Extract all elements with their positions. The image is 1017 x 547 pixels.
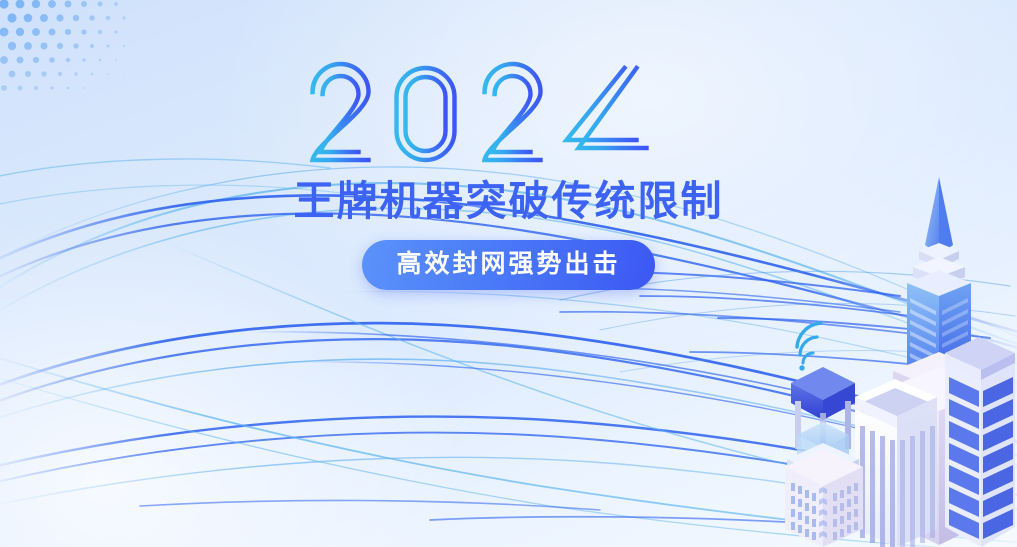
wifi-signal-icon bbox=[797, 323, 821, 371]
promo-banner: 王牌机器突破传统限制 高效封网强势出击 bbox=[0, 0, 1017, 547]
observation-tower bbox=[785, 367, 863, 547]
isometric-city-illustration bbox=[767, 167, 1017, 547]
subtitle-pill[interactable]: 高效封网强势出击 bbox=[362, 240, 654, 290]
striped-office-building bbox=[855, 379, 937, 547]
banded-skyscraper bbox=[945, 337, 1015, 547]
